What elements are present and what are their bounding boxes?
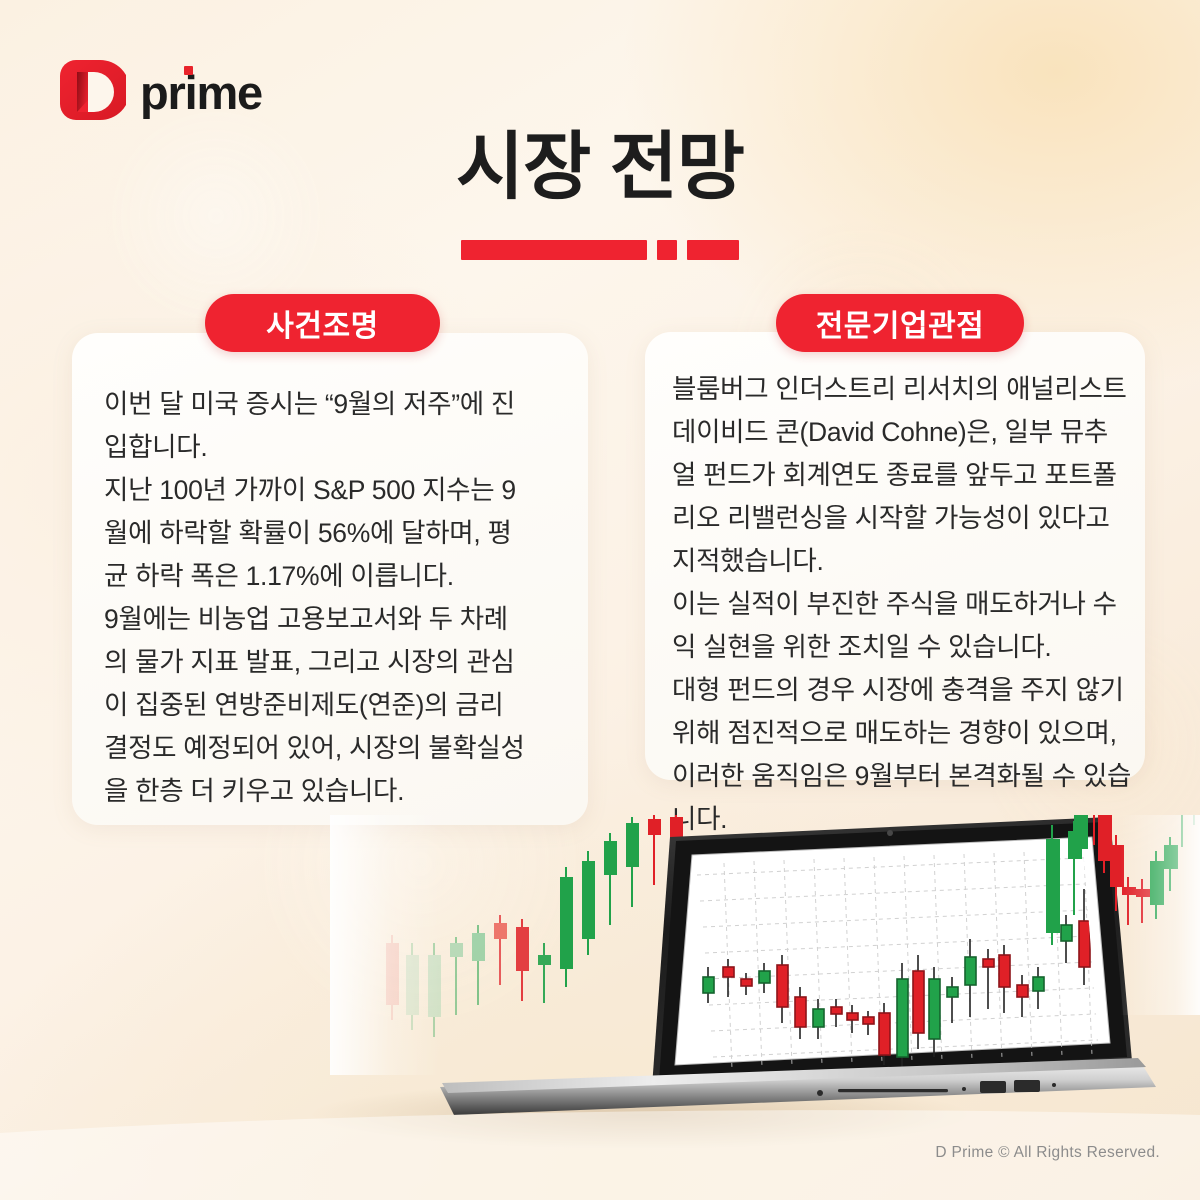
left-fade [330, 815, 440, 1075]
poster-root: prime 시장 전망 사건조명 이번 달 미국 증시는 “9월의 저주”에 진… [0, 0, 1200, 1200]
badge-expert-view: 전문기업관점 [776, 294, 1024, 352]
brand-wordmark-text: prime [140, 66, 262, 119]
brand-logo: prime [58, 58, 262, 126]
laptop-icon [440, 817, 1200, 1115]
illustration-laptop-chart [0, 815, 1200, 1200]
title-divider [0, 240, 1200, 260]
badge-incident-spotlight: 사건조명 [205, 294, 440, 352]
right-fade [1120, 815, 1200, 1015]
card-body-incident-spotlight: 이번 달 미국 증시는 “9월의 저주”에 진 입합니다. 지난 100년 가까… [104, 383, 574, 813]
i-dot-icon [184, 66, 193, 75]
card-body-expert-view: 블룸버그 인더스트리 리서치의 애널리스트 데이비드 콘(David Cohne… [672, 368, 1142, 841]
divider-segment-long [461, 240, 647, 260]
divider-segment-mid [687, 240, 739, 260]
brand-wordmark: prime [140, 69, 262, 116]
divider-segment-dot [657, 240, 677, 260]
d-prime-logo-icon [58, 58, 126, 126]
page-title: 시장 전망 [0, 130, 1200, 204]
footer-copyright: D Prime © All Rights Reserved. [935, 1144, 1160, 1162]
